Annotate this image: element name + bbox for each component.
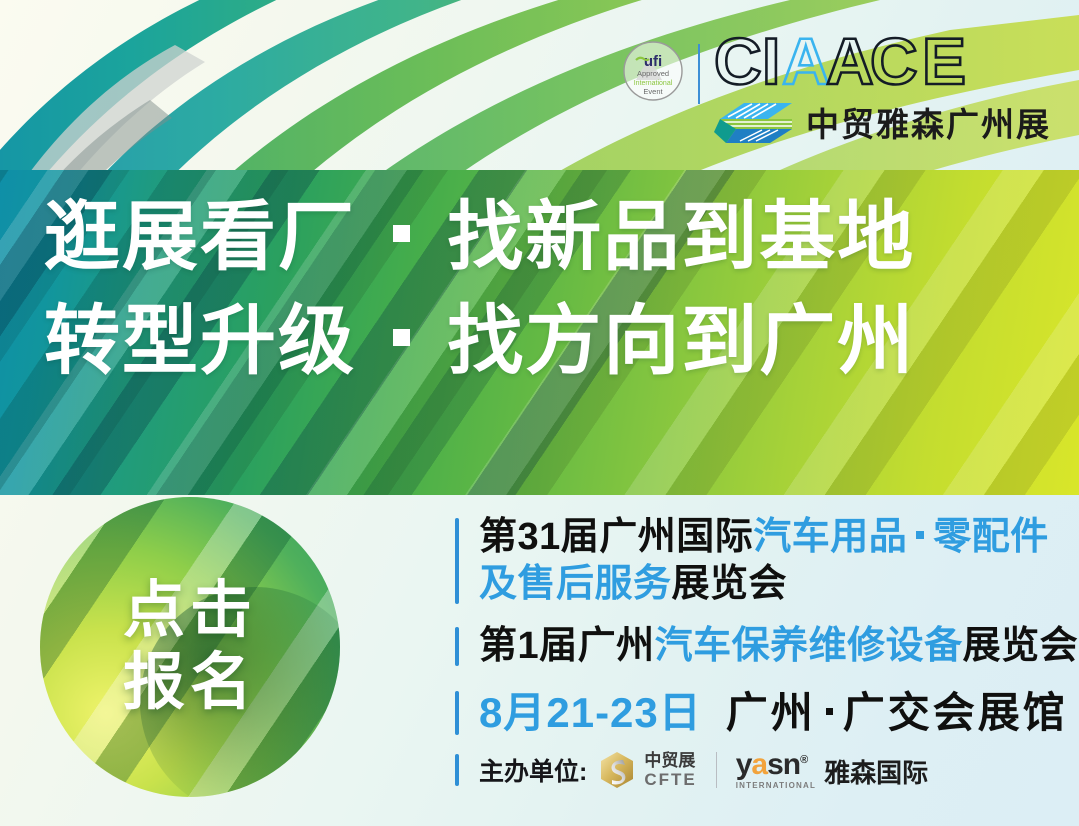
yasn-chinese-name: 雅森国际 [824,753,928,790]
svg-text:A: A [826,34,874,96]
date-venue-row: 8月21-23日广州广交会展馆 [455,687,1055,739]
headline-line-1: 逛展看厂 找新品到基地 [44,186,1044,290]
expo1-prefix: 第31届广州国际 [479,516,753,558]
lockup-divider [698,44,700,104]
organizer-label: 主办单位: [479,752,587,788]
svg-text:E: E [922,34,966,96]
organizer-row: 主办单位: [455,750,1055,790]
svg-text:Event: Event [643,87,663,96]
expo1-middot-icon [916,531,924,539]
organizer-divider [716,752,717,788]
event-city: 广州 [726,689,816,736]
headline-separator-dot-1 [393,225,410,242]
cfte-hexagon-icon [597,750,637,790]
svg-text:International: International [634,80,673,87]
event-venue: 广交会展馆 [843,689,1068,736]
expo2-suffix: 展览会 [963,625,1079,667]
expo2-prefix: 第1届广州 [479,625,655,667]
yasn-trademark: ® [800,754,807,766]
expo-2-line: 第1届广州汽车保养维修设备展览会 [479,623,1055,670]
yasn-tagline: INTERNATIONAL [736,782,816,790]
venue-separator-icon [826,708,833,715]
yasn-wordmark: yasn® [736,750,816,780]
svg-text:I: I [762,34,780,96]
cfte-chinese-name: 中贸展 [644,752,696,769]
date-venue-line: 8月21-23日广州广交会展馆 [479,687,1055,739]
headline-line2-part-a: 转型升级 [44,299,356,384]
ciaace-wordmark: C I A A C E [714,34,1051,96]
headline-line-2: 转型升级 找方向到广州 [44,290,1044,394]
headline-line1-part-b: 找新品到基地 [447,195,915,280]
organizer-cfte-logo: 中贸展 CFTE [597,750,696,790]
cta-line-2: 报名 [123,647,257,719]
headline-line1-part-a: 逛展看厂 [44,195,356,280]
headline-separator-dot-2 [393,329,410,346]
svg-text:C: C [870,34,918,96]
svg-text:Approved: Approved [637,69,669,78]
expo-2-row: 第1届广州汽车保养维修设备展览会 [455,623,1055,670]
headline-text: 逛展看厂 找新品到基地 转型升级 找方向到广州 [44,186,1044,394]
brand-chinese-name: 中贸雅森广州展 [806,98,1051,146]
organizer-yasn-logo: yasn® INTERNATIONAL 雅森国际 [736,750,928,790]
ribbon-mark-icon [714,99,798,145]
svg-text:ufi: ufi [644,53,662,70]
register-cta-label[interactable]: 点击 报名 [40,497,340,797]
brand-logo-lockup: ufi Approved International Event C I A A… [622,34,1051,146]
expo-1-line-1: 第31届广州国际汽车用品零配件 [479,514,1055,561]
expo1-highlight-3: 及售后服务 [479,563,672,605]
expo2-highlight: 汽车保养维修设备 [655,625,963,667]
event-info-block: 第31届广州国际汽车用品零配件 及售后服务展览会 第1届广州汽车保养维修设备展览… [455,514,1055,790]
svg-text:A: A [782,34,830,96]
expo-1-row: 第31届广州国际汽车用品零配件 及售后服务展览会 [455,514,1055,608]
svg-text:C: C [714,34,761,96]
expo-1-line-2: 及售后服务展览会 [479,561,1055,608]
expo1-highlight-2: 零配件 [933,516,1049,558]
promo-poster: 逛展看厂 找新品到基地 转型升级 找方向到广州 点击 报名 第31届广州国际汽车… [0,0,1079,826]
cta-line-1: 点击 [123,575,257,647]
event-date: 8月21-23日 [479,689,702,736]
headline-line2-part-b: 找方向到广州 [447,299,915,384]
ufi-approved-badge-icon: ufi Approved International Event [622,40,684,102]
expo1-highlight-1: 汽车用品 [753,516,907,558]
cfte-english-name: CFTE [644,771,696,788]
expo1-suffix: 展览会 [672,563,788,605]
